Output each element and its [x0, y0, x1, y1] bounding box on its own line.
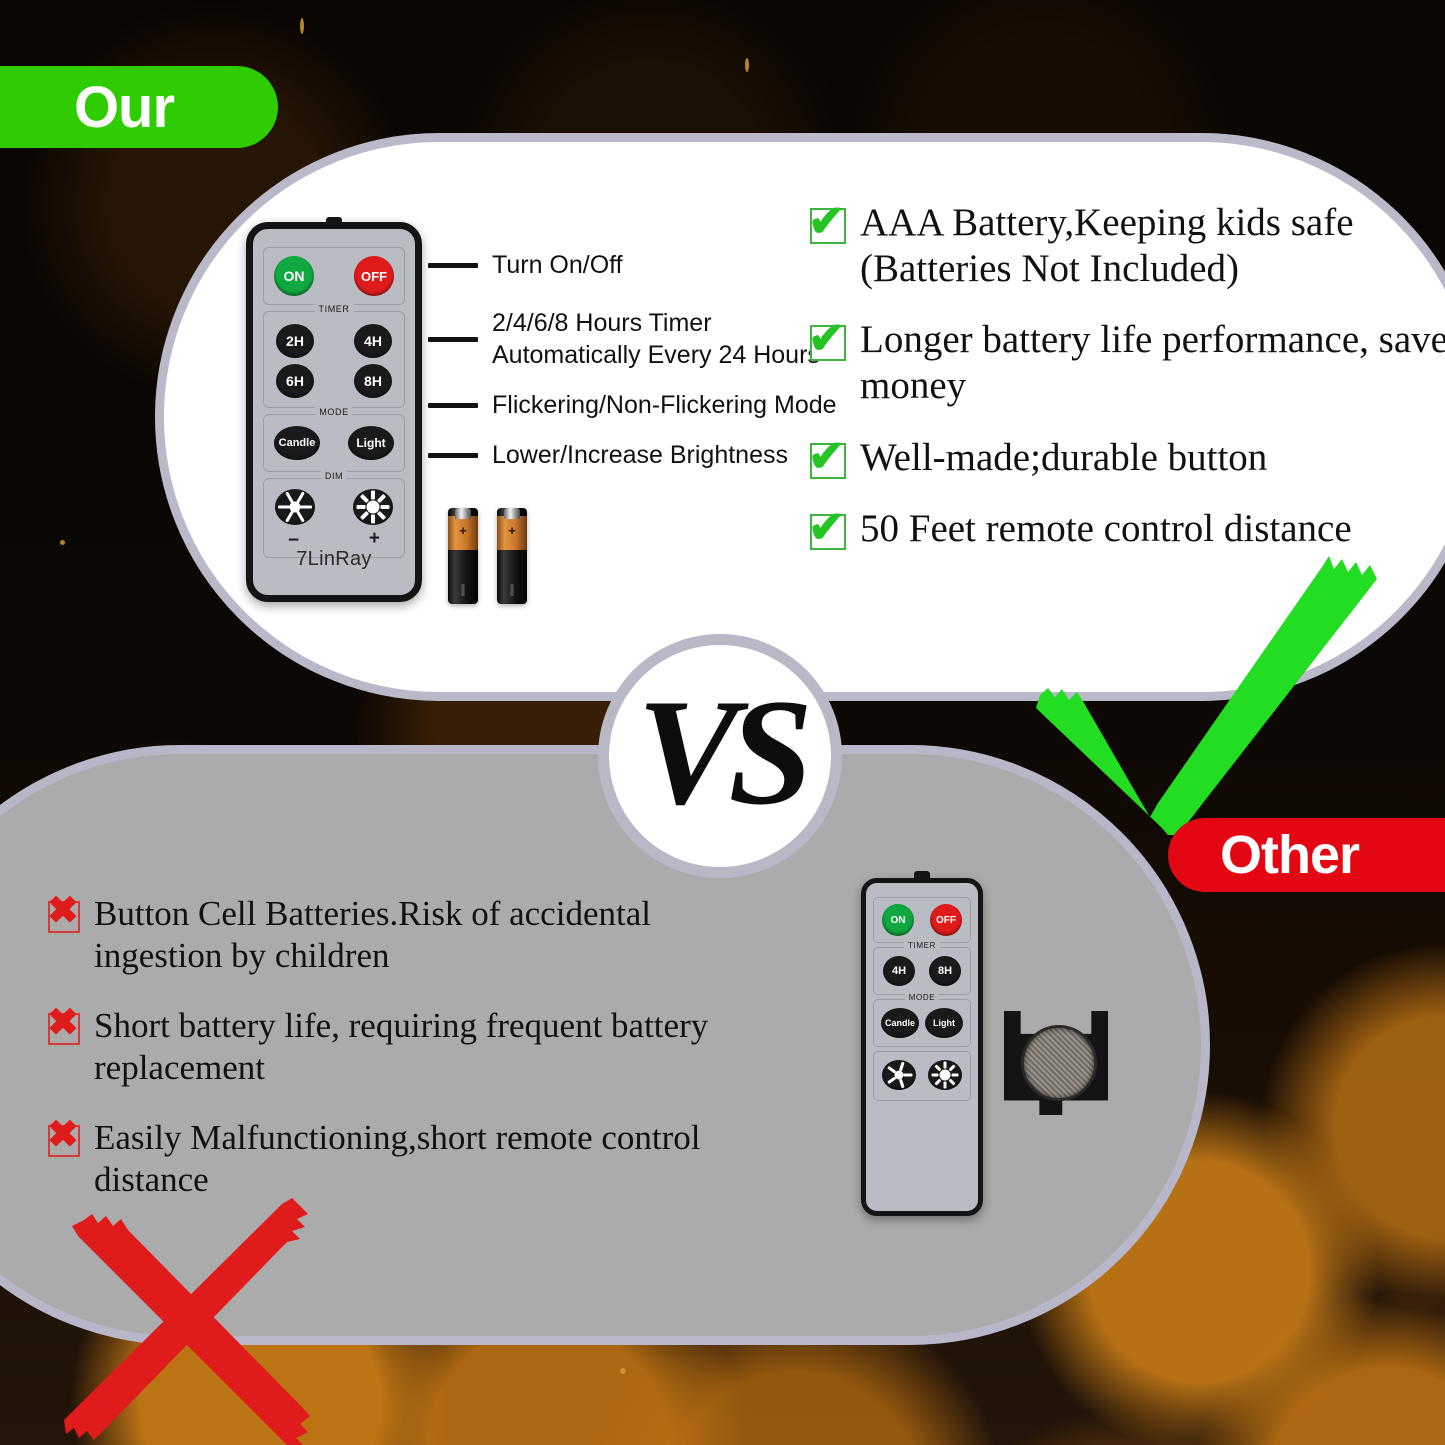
dim-decrease-button[interactable] — [275, 489, 315, 525]
drawback-item: ✖ Button Cell Batteries.Risk of accident… — [48, 893, 768, 977]
x-glyph: ✖ — [47, 1004, 79, 1042]
mode-candle-button[interactable]: Candle — [881, 1008, 919, 1038]
callout-leader-line — [428, 337, 478, 342]
battery-terminal-cap — [455, 508, 471, 519]
benefit-item: ✔ Longer battery life performance, save … — [810, 317, 1445, 408]
sun-bright-icon — [359, 494, 387, 519]
timer-8h-button[interactable]: 8H — [929, 956, 961, 986]
on-button-label: ON — [891, 915, 906, 926]
check-icon: ✔ — [810, 514, 846, 550]
sun-dim-icon — [281, 494, 309, 519]
x-mark-icon: ✖ — [48, 901, 80, 933]
timer-8h-button[interactable]: 8H — [354, 364, 392, 398]
drawbacks-list: ✖ Button Cell Batteries.Risk of accident… — [48, 893, 768, 1229]
battery-terminal-cap — [504, 508, 520, 519]
other-remote-control: ON OFF TIMER 4H 8H MODE Candle Light — [861, 878, 983, 1216]
mode-group-label: MODE — [315, 407, 352, 417]
callout-leader-line — [428, 453, 478, 458]
timer-group-label: TIMER — [904, 941, 940, 950]
callout-brightness: Lower/Increase Brightness — [428, 440, 788, 472]
mode-candle-label: Candle — [279, 437, 316, 449]
on-button[interactable]: ON — [274, 256, 314, 296]
sun-bright-icon — [933, 1065, 957, 1086]
benefit-text: 50 Feet remote control distance — [860, 506, 1352, 552]
mode-light-label: Light — [356, 436, 385, 450]
off-button-label: OFF — [361, 269, 387, 284]
timer-4h-label: 4H — [892, 965, 906, 977]
drawback-item: ✖ Short battery life, requiring frequent… — [48, 1005, 768, 1089]
dim-group-label: DIM — [321, 471, 347, 481]
benefit-item: ✔ Well-made;durable button — [810, 435, 1445, 481]
off-button[interactable]: OFF — [354, 256, 394, 296]
benefit-item: ✔ 50 Feet remote control distance — [810, 506, 1445, 552]
callout-timer: 2/4/6/8 Hours Timer Automatically Every … — [428, 308, 820, 371]
background-spark — [60, 540, 65, 545]
timer-8h-label: 8H — [364, 373, 382, 389]
callout-leader-line — [428, 403, 478, 408]
dim-button-group — [873, 1051, 971, 1101]
off-button[interactable]: OFF — [930, 904, 962, 936]
on-button[interactable]: ON — [882, 904, 914, 936]
on-button-label: ON — [284, 268, 305, 284]
timer-2h-label: 2H — [286, 333, 304, 349]
aaa-battery: + — [448, 508, 478, 604]
aaa-battery: + — [497, 508, 527, 604]
timer-6h-button[interactable]: 6H — [276, 364, 314, 398]
vs-badge: VS — [598, 634, 842, 878]
check-glyph: ✔ — [808, 506, 845, 550]
coin-cell-battery-holder — [1000, 1005, 1112, 1123]
drawback-text: Easily Malfunctioning,short remote contr… — [94, 1117, 768, 1201]
callout-text: Lower/Increase Brightness — [492, 440, 788, 472]
x-glyph: ✖ — [47, 1116, 79, 1154]
our-badge: Our — [0, 66, 278, 148]
timer-4h-button[interactable]: 4H — [354, 324, 392, 358]
callout-text: Turn On/Off — [492, 250, 623, 282]
x-mark-icon: ✖ — [48, 1013, 80, 1045]
timer-4h-button[interactable]: 4H — [883, 956, 915, 986]
remote-ir-nub — [914, 871, 930, 879]
benefit-item: ✔ AAA Battery,Keeping kids safe (Batteri… — [810, 200, 1445, 291]
x-mark-icon: ✖ — [48, 1125, 80, 1157]
timer-4h-label: 4H — [364, 333, 382, 349]
battery-plus-sign: + — [497, 524, 527, 537]
dim-increase-button[interactable] — [353, 489, 393, 525]
benefit-text: Well-made;durable button — [860, 435, 1267, 481]
battery-notch — [511, 584, 514, 596]
timer-button-group: TIMER 2H 4H 6H 8H — [263, 311, 405, 408]
mode-button-group: MODE Candle Light — [263, 414, 405, 472]
infographic-canvas: ON OFF TIMER 2H 4H 6H 8H MODE — [0, 0, 1445, 1445]
timer-8h-label: 8H — [938, 965, 952, 977]
timer-6h-label: 6H — [286, 373, 304, 389]
our-badge-label: Our — [74, 74, 174, 141]
timer-button-group: TIMER 4H 8H — [873, 947, 971, 995]
other-badge-label: Other — [1220, 824, 1359, 886]
x-glyph: ✖ — [47, 892, 79, 930]
mode-button-group: MODE Candle Light — [873, 999, 971, 1047]
power-button-group: ON OFF — [263, 247, 405, 305]
check-glyph: ✔ — [808, 317, 845, 361]
timer-group-label: TIMER — [315, 304, 354, 314]
check-glyph: ✔ — [808, 200, 845, 244]
power-button-group: ON OFF — [873, 897, 971, 943]
our-remote-control: ON OFF TIMER 2H 4H 6H 8H MODE — [246, 222, 422, 602]
drawback-text: Short battery life, requiring frequent b… — [94, 1005, 768, 1089]
off-button-label: OFF — [936, 915, 956, 926]
callout-turn-on-off: Turn On/Off — [428, 250, 623, 282]
coin-cell-battery — [1021, 1025, 1097, 1101]
remote-brand-label: 7LinRay — [253, 548, 415, 571]
remote-ir-nub — [326, 217, 342, 225]
check-icon: ✔ — [810, 443, 846, 479]
mode-candle-button[interactable]: Candle — [274, 426, 320, 460]
battery-plus-sign: + — [448, 524, 478, 537]
mode-candle-label: Candle — [885, 1018, 915, 1028]
callout-text: Flickering/Non-Flickering Mode — [492, 390, 837, 422]
benefit-text: AAA Battery,Keeping kids safe (Batteries… — [860, 200, 1445, 291]
background-spark — [745, 58, 749, 72]
timer-2h-button[interactable]: 2H — [276, 324, 314, 358]
callout-mode: Flickering/Non-Flickering Mode — [428, 390, 837, 422]
check-icon: ✔ — [810, 325, 846, 361]
background-spark — [300, 18, 304, 34]
dim-button-group: DIM — [263, 478, 405, 558]
check-icon: ✔ — [810, 208, 846, 244]
vs-label: VS — [637, 676, 803, 828]
benefit-text: Longer battery life performance, save mo… — [860, 317, 1445, 408]
dim-decrease-button[interactable] — [882, 1060, 916, 1090]
mode-light-button[interactable]: Light — [348, 426, 394, 460]
callout-text: 2/4/6/8 Hours Timer Automatically Every … — [492, 308, 820, 371]
mode-light-button[interactable]: Light — [925, 1008, 963, 1038]
drawback-item: ✖ Easily Malfunctioning,short remote con… — [48, 1117, 768, 1201]
drawback-text: Button Cell Batteries.Risk of accidental… — [94, 893, 768, 977]
callout-leader-line — [428, 263, 478, 268]
check-glyph: ✔ — [808, 435, 845, 479]
sun-dim-icon — [887, 1065, 911, 1086]
mode-group-label: MODE — [905, 993, 939, 1002]
battery-notch — [462, 584, 465, 596]
other-badge: Other — [1168, 818, 1445, 892]
benefits-list: ✔ AAA Battery,Keeping kids safe (Batteri… — [810, 200, 1445, 578]
dim-plus-sign: + — [369, 529, 380, 548]
background-spark — [620, 1368, 626, 1374]
dim-increase-button[interactable] — [928, 1060, 962, 1090]
mode-light-label: Light — [933, 1018, 955, 1028]
